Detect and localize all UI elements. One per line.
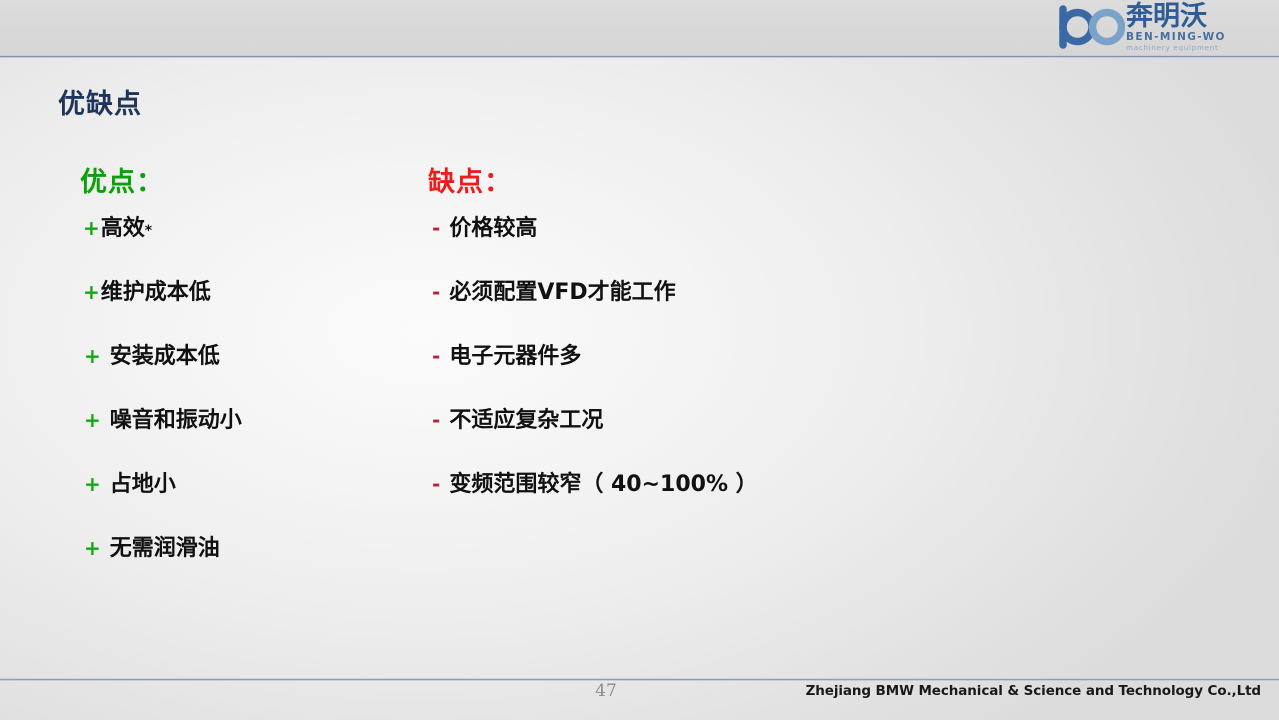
pros-heading: 优点： (80, 160, 420, 210)
pro-item: +维护成本低 (80, 274, 420, 338)
pro-item: +占地小 (80, 466, 420, 530)
con-item-label: 不适应复杂工况 (449, 402, 603, 434)
pro-item: +高效* (80, 210, 420, 274)
pro-marker-icon: + (84, 344, 101, 368)
con-item: -变频范围较窄（ 40~100% ） (428, 466, 928, 530)
pro-marker-icon: + (84, 408, 101, 432)
con-item: -价格较高 (428, 210, 928, 274)
con-marker-icon: - (432, 344, 440, 368)
con-item: -必须配置VFD才能工作 (428, 274, 928, 338)
con-marker-icon: - (432, 280, 440, 304)
pro-item: +噪音和振动小 (80, 402, 420, 466)
con-item: -电子元器件多 (428, 338, 928, 402)
pro-marker-icon: + (83, 216, 100, 240)
pro-marker-icon: + (84, 536, 101, 560)
pros-column: 优点： +高效*+维护成本低+安装成本低+噪音和振动小+占地小+无需润滑油 (80, 160, 420, 594)
pro-item-label: 维护成本低 (101, 274, 211, 306)
pro-marker-icon: + (83, 280, 100, 304)
slide-canvas: 奔明沃 BEN-MING-WO machinery equipment 优缺点 … (0, 0, 1279, 720)
con-marker-icon: - (432, 408, 440, 432)
con-item-label: 电子元器件多 (449, 338, 581, 370)
con-item: -不适应复杂工况 (428, 402, 928, 466)
con-item-label: 价格较高 (449, 210, 537, 242)
pro-item: +无需润滑油 (80, 530, 420, 594)
pro-item: +安装成本低 (80, 338, 420, 402)
page-title: 优缺点 (58, 82, 142, 121)
header-divider-line (0, 55, 1279, 58)
logo-chinese-name: 奔明沃 (1126, 3, 1226, 30)
logo-text-block: 奔明沃 BEN-MING-WO machinery equipment (1126, 3, 1226, 51)
pro-item-label: 占地小 (110, 466, 176, 498)
cons-heading: 缺点： (428, 160, 928, 210)
pro-item-label: 无需润滑油 (110, 530, 220, 562)
pro-item-label: 噪音和振动小 (110, 402, 242, 434)
con-marker-icon: - (432, 472, 440, 496)
logo-tagline: machinery equipment (1126, 44, 1226, 51)
company-logo: 奔明沃 BEN-MING-WO machinery equipment (1059, 2, 1271, 52)
pro-marker-icon: + (84, 472, 101, 496)
pros-list: +高效*+维护成本低+安装成本低+噪音和振动小+占地小+无需润滑油 (80, 210, 420, 594)
cons-column: 缺点： -价格较高-必须配置VFD才能工作-电子元器件多-不适应复杂工况-变频范… (428, 160, 928, 530)
footer-company-name: Zhejiang BMW Mechanical & Science and Te… (806, 683, 1261, 699)
cons-list: -价格较高-必须配置VFD才能工作-电子元器件多-不适应复杂工况-变频范围较窄（… (428, 210, 928, 530)
con-marker-icon: - (432, 216, 440, 240)
bo-circle-logo-icon (1059, 5, 1125, 49)
con-item-label: 必须配置VFD才能工作 (449, 274, 675, 306)
con-item-label: 变频范围较窄（ 40~100% ） (449, 466, 757, 498)
pro-item-label: 高效 (101, 210, 145, 242)
logo-romanization: BEN-MING-WO (1126, 32, 1226, 43)
pro-item-label: 安装成本低 (110, 338, 220, 370)
